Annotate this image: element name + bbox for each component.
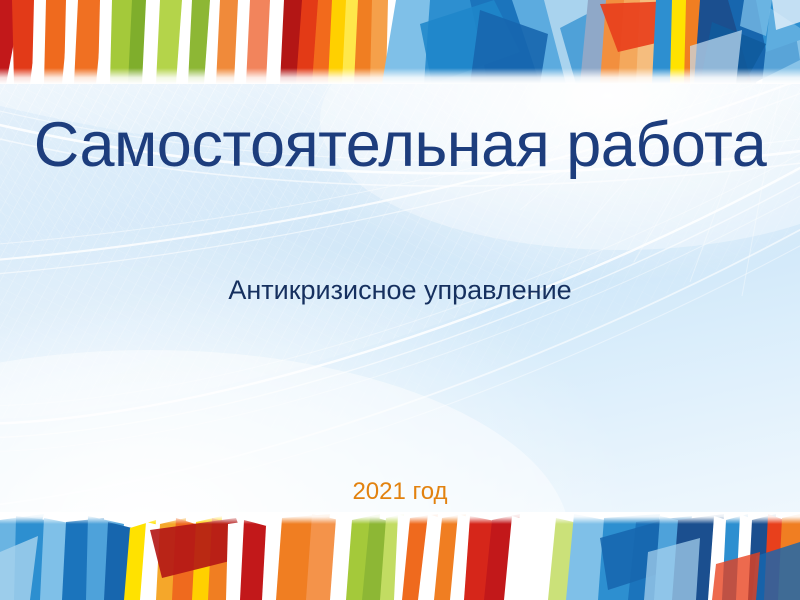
decor-band-bottom	[0, 512, 800, 600]
slide-subtitle: Антикризисное управление	[0, 274, 800, 306]
presentation-slide: Самостоятельная работа Антикризисное упр…	[0, 0, 800, 600]
slide-year: 2021 год	[0, 478, 800, 507]
decor-band-top	[0, 0, 800, 84]
slide-title: Самостоятельная работа	[0, 112, 800, 179]
